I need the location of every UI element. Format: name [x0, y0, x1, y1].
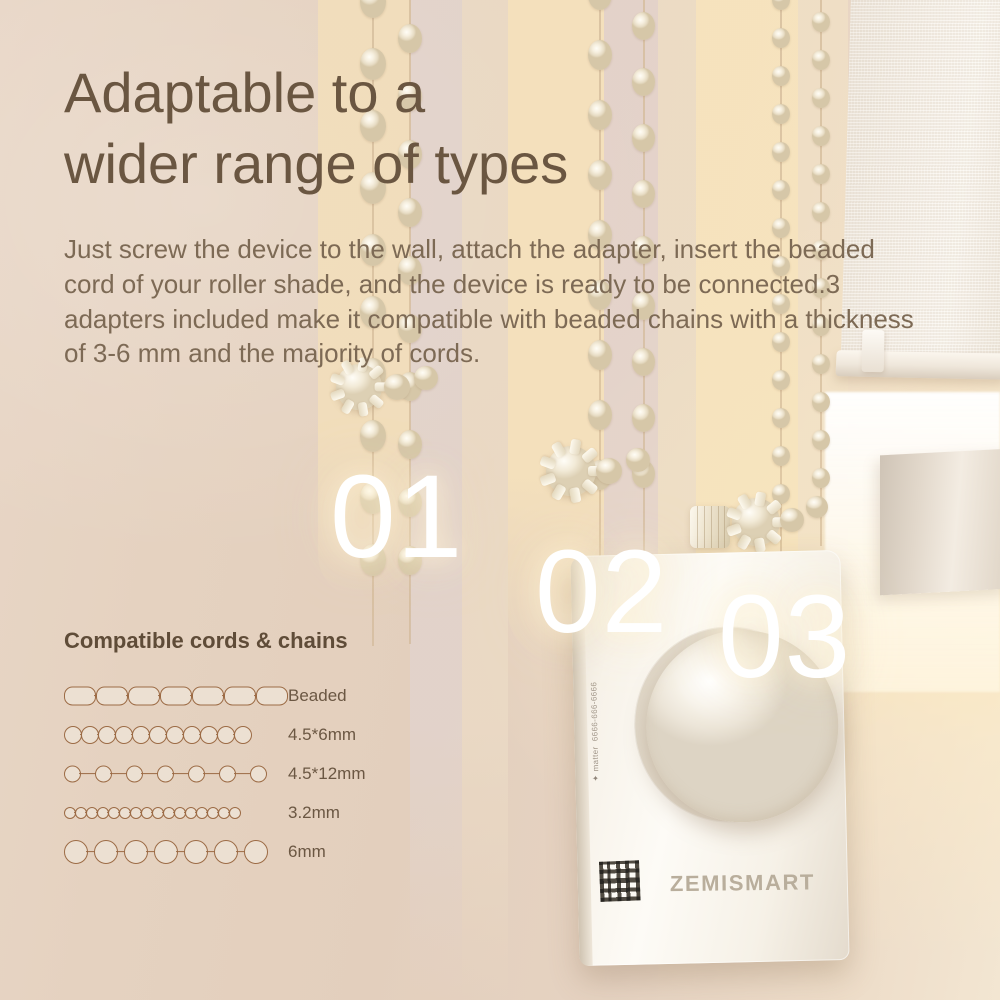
cord-link	[94, 840, 118, 864]
bead	[772, 180, 790, 200]
cord-diagram-beaded	[64, 681, 274, 711]
cord-diagram-4-5-12mm	[64, 759, 274, 789]
bead	[588, 0, 612, 10]
matter-code-label: ✦matter 6666-666-6666	[590, 712, 601, 782]
gear-tooth	[754, 491, 766, 507]
step-number-03: 03	[718, 578, 851, 696]
bead	[812, 12, 830, 32]
bead	[812, 164, 830, 184]
compatible-cords-section: Compatible cords & chains Beaded4.5*6mm4…	[64, 628, 414, 871]
bead	[772, 28, 790, 48]
bead	[772, 0, 790, 10]
adapter-bead	[384, 374, 410, 400]
product-marketing-image: ✦matter 6666-666-6666 ZEMISMART 010203 A…	[0, 0, 1000, 1000]
bead	[812, 392, 830, 412]
qr-code-icon	[599, 860, 641, 902]
bead	[812, 88, 830, 108]
cord-row: 4.5*6mm	[64, 715, 414, 754]
bead	[812, 468, 830, 488]
bead	[772, 66, 790, 86]
adapter-sleeve	[690, 506, 730, 548]
cord-row: Beaded	[64, 676, 414, 715]
compatible-cords-title: Compatible cords & chains	[64, 628, 414, 654]
cord-link	[244, 840, 268, 864]
bead	[812, 126, 830, 146]
step-number-02: 02	[535, 533, 668, 651]
bead	[772, 104, 790, 124]
cord-link	[224, 686, 256, 705]
cord-link	[234, 726, 252, 744]
cord-label: Beaded	[288, 686, 347, 706]
adapter-bead	[596, 458, 622, 484]
cord-link	[229, 807, 241, 819]
bead	[360, 0, 386, 18]
cord-link	[64, 840, 88, 864]
cord-label: 3.2mm	[288, 803, 340, 823]
bead	[398, 24, 422, 53]
bead	[772, 446, 790, 466]
matter-code-text: 6666-666-6666	[589, 682, 599, 742]
bead	[812, 430, 830, 450]
bead	[632, 404, 655, 432]
gear-icon	[732, 498, 780, 546]
cord-diagram-3-2mm	[64, 798, 274, 828]
cord-link	[192, 686, 224, 705]
cord-link	[250, 765, 267, 782]
matter-star-icon: ✦	[591, 774, 600, 781]
cord-label: 4.5*6mm	[288, 725, 356, 745]
cord-link	[128, 686, 160, 705]
bead	[772, 142, 790, 162]
headline-line-1: Adaptable to a	[64, 58, 764, 129]
bead	[812, 202, 830, 222]
bead	[398, 198, 422, 227]
cord-rows: Beaded4.5*6mm4.5*12mm3.2mm6mm	[64, 676, 414, 871]
matter-text: matter	[591, 746, 601, 771]
cord-diagram-6mm	[64, 837, 274, 867]
headline-line-2: wider range of types	[64, 129, 764, 200]
cord-link	[96, 686, 128, 705]
cord-label: 6mm	[288, 842, 326, 862]
cord-diagram-4-5-6mm	[64, 720, 274, 750]
bead	[588, 400, 612, 430]
gear-tooth	[569, 439, 581, 456]
cord-link	[214, 840, 238, 864]
cord-link	[154, 840, 178, 864]
cord-link	[124, 840, 148, 864]
cord-link	[64, 686, 96, 705]
gear-tooth	[357, 402, 368, 417]
wall-valance-panel	[880, 449, 1000, 596]
step-number-01: 01	[330, 458, 463, 576]
bead	[812, 50, 830, 70]
cord-row: 4.5*12mm	[64, 754, 414, 793]
adapter-bead	[626, 448, 650, 472]
gear-tooth	[569, 487, 581, 504]
cord-row: 3.2mm	[64, 793, 414, 832]
adapter-bead	[780, 508, 804, 532]
gear-icon	[546, 446, 596, 496]
description-paragraph: Just screw the device to the wall, attac…	[64, 232, 924, 371]
cord-link	[256, 686, 288, 705]
bead	[772, 408, 790, 428]
gear-tooth	[754, 537, 766, 553]
cord-label: 4.5*12mm	[288, 764, 365, 784]
brand-logo-text: ZEMISMART	[670, 869, 815, 897]
cord-link	[160, 686, 192, 705]
bead	[360, 420, 386, 452]
cord-row: 6mm	[64, 832, 414, 871]
page-title: Adaptable to a wider range of types	[64, 58, 764, 199]
cord-link	[184, 840, 208, 864]
adapter-bead	[806, 496, 828, 518]
bead	[772, 370, 790, 390]
bead	[632, 12, 655, 40]
